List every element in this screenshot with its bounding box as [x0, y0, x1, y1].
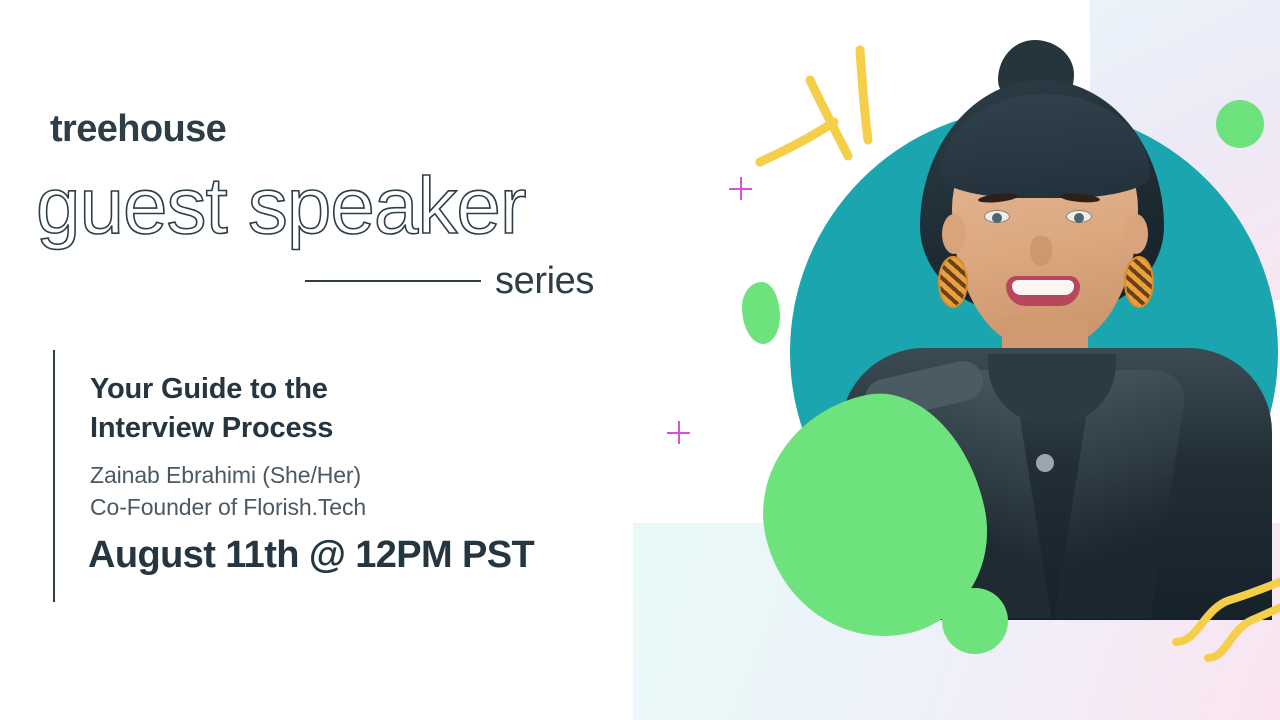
portrait-smile [1006, 276, 1080, 306]
portrait-earring-right [1124, 256, 1154, 308]
portrait-eye-right [1066, 210, 1092, 223]
portrait-earring-left [938, 256, 968, 308]
portrait-pupil-right [1074, 213, 1084, 223]
portrait-teeth [1012, 280, 1074, 295]
green-dot-bottom [942, 588, 1008, 654]
treehouse-wordmark: treehouse [50, 108, 226, 151]
portrait-ear-left [942, 214, 966, 254]
yellow-rays-icon [752, 40, 892, 200]
series-row: series [305, 256, 625, 306]
portrait-pupil-left [992, 213, 1002, 223]
speaker-role: Co-Founder of Florish.Tech [90, 494, 366, 521]
series-label: series [495, 260, 594, 303]
event-datetime: August 11th @ 12PM PST [88, 534, 534, 577]
green-blob-small [742, 282, 780, 344]
portrait-eye-left [984, 210, 1010, 223]
talk-title: Your Guide to the Interview Process [90, 370, 560, 448]
webinar-promo-slide: treehouse guest speaker series Your Guid… [0, 0, 1280, 720]
portrait-jacket-stud [1036, 454, 1054, 472]
portrait-nose [1030, 236, 1052, 266]
speaker-name: Zainab Ebrahimi (She/Her) [90, 462, 361, 489]
yellow-swooshes-icon [1168, 572, 1280, 664]
series-divider-rule [305, 280, 481, 282]
portrait-ear-right [1124, 214, 1148, 254]
magenta-plus-icon-middle [667, 421, 690, 444]
headline-guest-speaker: guest speaker [36, 160, 526, 252]
details-vertical-rule [53, 350, 55, 602]
magenta-plus-icon-top [729, 177, 752, 200]
